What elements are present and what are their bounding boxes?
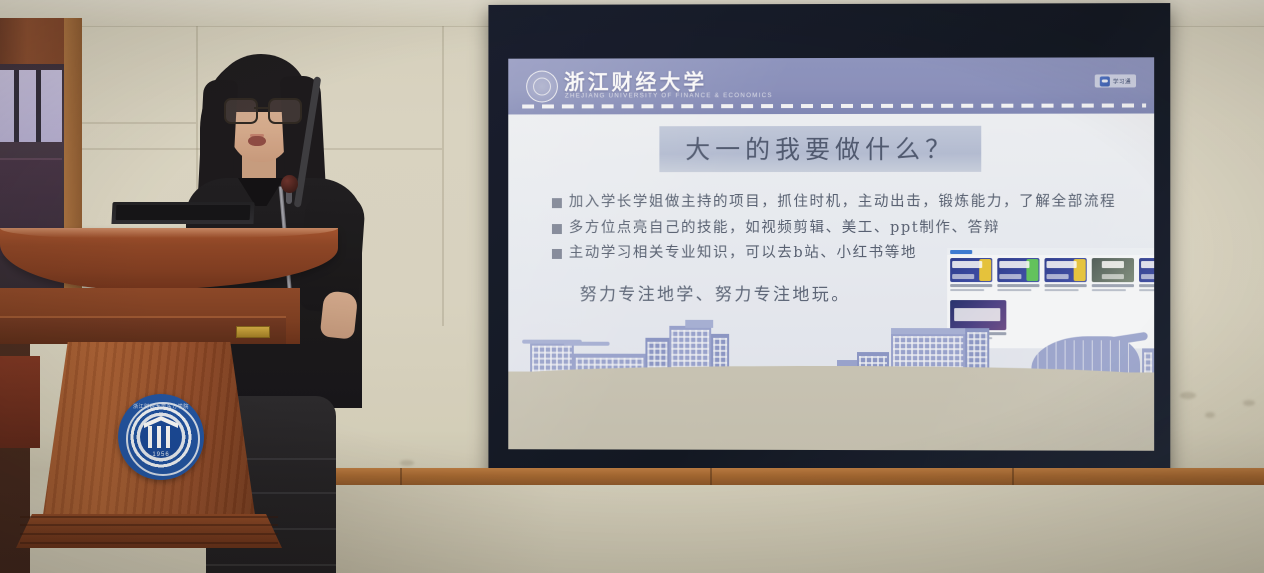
slide-title: 大一的我要做什么？ — [685, 130, 955, 166]
screen-surface: 浙江财经大学 ZHEJIANG UNIVERSITY OF FINANCE & … — [508, 57, 1154, 450]
bullet-text: 加入学长学姐做主持的项目，抓住时机，主动出击，锻炼能力，了解全部流程 — [569, 194, 1116, 211]
wall-mark — [1243, 400, 1255, 406]
window-mullion — [14, 70, 19, 142]
university-seal-icon — [526, 71, 558, 103]
card-thumbnail — [1092, 258, 1134, 282]
result-card — [1044, 258, 1086, 291]
mouth — [248, 136, 266, 146]
square-bullet-icon — [552, 224, 562, 234]
screenshot-card-grid — [950, 258, 1154, 291]
podium-nameplate — [236, 326, 270, 338]
presenter-laptop[interactable] — [111, 202, 254, 224]
left-red-object — [0, 356, 40, 448]
slide-closing-line: 努力专注地学、努力专注地玩。 — [580, 280, 851, 305]
dashed-divider — [522, 103, 1146, 108]
door-glass — [0, 70, 62, 142]
list-item: 多方位点亮自己的技能，如视频剪辑、美工、ppt制作、答辩 — [552, 220, 1152, 237]
presentation-slide: 浙江财经大学 ZHEJIANG UNIVERSITY OF FINANCE & … — [508, 57, 1154, 450]
lecture-hall-photo: 浙江财经大学 ZHEJIANG UNIVERSITY OF FINANCE & … — [0, 0, 1264, 573]
gooseneck-microphone-icon — [281, 175, 298, 193]
card-thumbnail — [1044, 258, 1086, 282]
projection-screen[interactable]: 浙江财经大学 ZHEJIANG UNIVERSITY OF FINANCE & … — [488, 3, 1170, 483]
screenshot-tab-chip — [950, 250, 972, 254]
forearm — [320, 290, 359, 339]
floor-shadow — [310, 485, 1264, 573]
university-name-en: ZHEJIANG UNIVERSITY OF FINANCE & ECONOMI… — [565, 92, 773, 99]
window-mullion — [36, 70, 41, 142]
bullet-text: 主动学习相关专业知识，可以去b站、小红书等地 — [569, 245, 917, 262]
list-item: 加入学长学姐做主持的项目，抓住时机，主动出击，锻炼能力，了解全部流程 — [552, 194, 1152, 211]
chair-rail — [310, 468, 1264, 485]
card-thumbnail — [1139, 258, 1154, 282]
card-thumbnail — [950, 258, 992, 282]
wall-mark — [1205, 412, 1215, 418]
wall-mark — [400, 460, 414, 466]
square-bullet-icon — [552, 249, 562, 259]
panel-seam — [442, 26, 444, 326]
screenshot-toolbar — [947, 248, 1154, 255]
panel-seam — [82, 122, 196, 124]
card-thumbnail — [997, 258, 1039, 282]
result-card — [1092, 258, 1134, 291]
university-emblem: 浙江财经大学东方学院 1956 — [118, 394, 204, 480]
bullet-text: 多方位点亮自己的技能，如视频剪辑、美工、ppt制作、答辩 — [569, 220, 1000, 237]
result-card — [950, 258, 992, 291]
emblem-year: 1956 — [118, 452, 204, 458]
slide-header: 浙江财经大学 ZHEJIANG UNIVERSITY OF FINANCE & … — [508, 57, 1154, 114]
slide-title-box: 大一的我要做什么？ — [659, 126, 981, 172]
badge-label: 学习通 — [1113, 77, 1131, 85]
emblem-ring-text: 浙江财经大学东方学院 — [118, 403, 204, 410]
wall-mark — [1180, 392, 1196, 399]
result-card — [997, 258, 1039, 291]
slide-ground — [508, 372, 1154, 451]
laptop-screen — [116, 205, 251, 220]
result-card — [1139, 258, 1154, 291]
cloud-badge-icon — [1100, 76, 1110, 86]
header-badge: 学习通 — [1095, 74, 1136, 87]
square-bullet-icon — [552, 198, 562, 208]
glasses-icon — [224, 98, 298, 120]
